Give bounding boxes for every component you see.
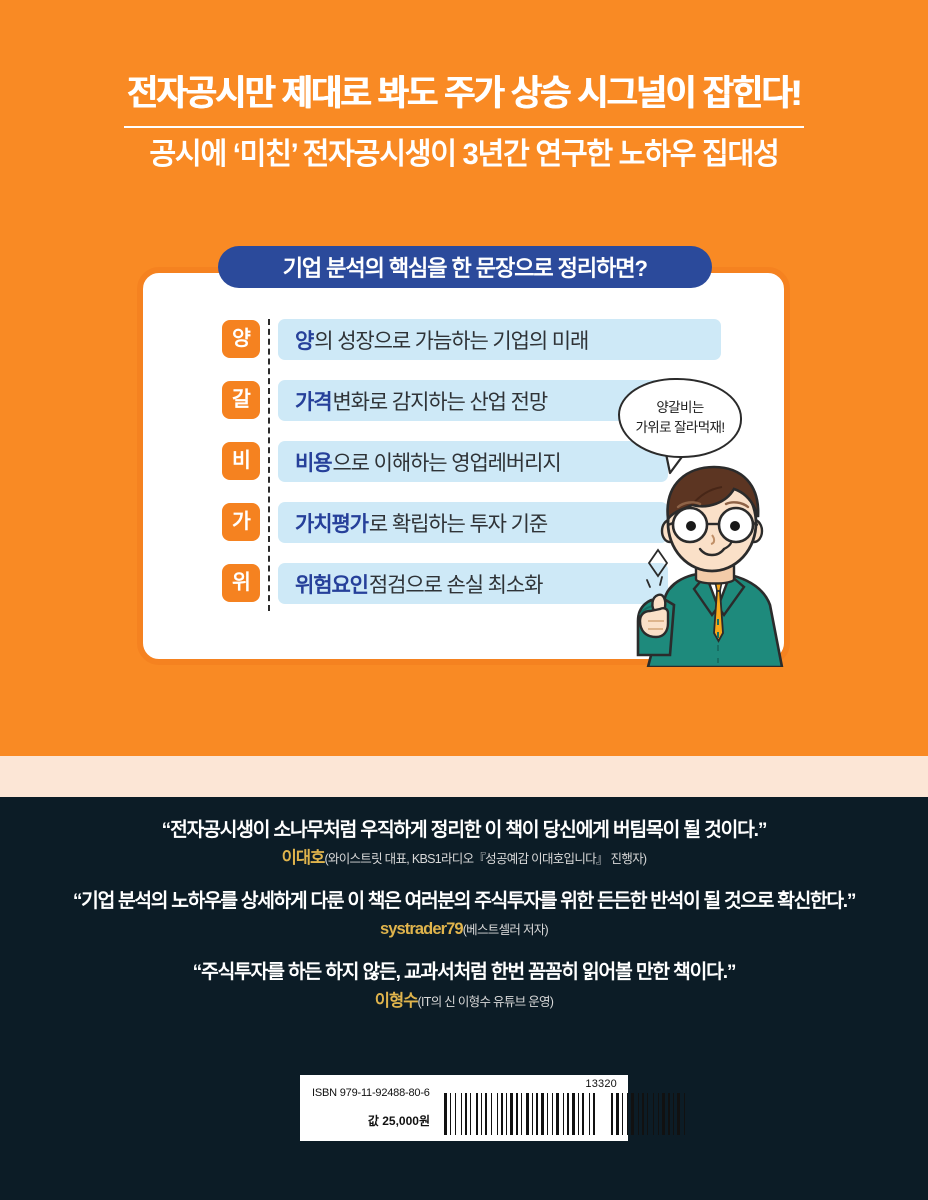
testimonial-author-affiliation: (와이스트릿 대표, KBS1라디오『성공예감 이대호입니다』 진행자) [324,852,646,866]
barcode-block: 13320 [442,1075,628,1141]
row-rest-text: 점검으로 손실 최소화 [369,569,542,599]
testimonial-credit: 이대호(와이스트릿 대표, KBS1라디오『성공예감 이대호입니다』 진행자) [0,849,928,869]
barcode-bars [444,1093,688,1135]
row-badge: 비 [222,442,260,480]
headline-divider-rule [124,126,804,128]
testimonial-credit: 이형수(IT의 신 이형수 유튜브 운영) [0,992,928,1012]
testimonial-item: “주식투자를 하든 하지 않든, 교과서처럼 한번 꼼꼼히 읽어볼 만한 책이다… [0,960,928,1011]
card-banner: 기업 분석의 핵심을 한 문장으로 정리하면? [218,246,712,288]
row-keyword: 양 [295,325,313,355]
testimonial-author-name: systrader79 [380,920,463,938]
row-badge: 양 [222,320,260,358]
testimonial-author-name: 이대호 [282,849,325,867]
row-badge-label: 갈 [232,390,250,411]
book-back-cover: 전자공시만 제대로 봐도 주가 상승 시그널이 잡힌다! 공시에 ‘미친’ 전자… [0,0,928,1200]
testimonial-item: “전자공시생이 소나무처럼 우직하게 정리한 이 책이 당신에게 버팀목이 될 … [0,818,928,869]
row-badge: 위 [222,564,260,602]
testimonial-quote: “기업 분석의 노하우를 상세하게 다룬 이 책은 여러분의 주식투자를 위한 … [7,889,921,914]
testimonial-author-affiliation: (IT의 신 이형수 유튜브 운영) [418,995,554,1009]
speech-bubble: 양갈비는 가위로 잘라먹재! [618,378,742,458]
speech-bubble-line-1: 양갈비는 [656,398,703,418]
isbn-text-block: ISBN 979-11-92488-80-6 값 25,000원 [300,1075,442,1141]
headline-secondary: 공시에 ‘미친’ 전자공시생이 3년간 연구한 노하우 집대성 [14,138,914,173]
testimonial-author-name: 이형수 [375,992,418,1010]
row-keyword: 가치평가 [295,508,368,538]
isbn-code: ISBN 979-11-92488-80-6 [312,1087,434,1099]
card-banner-label: 기업 분석의 핵심을 한 문장으로 정리하면? [283,251,647,283]
row-badge-label: 가 [232,512,250,533]
row-rest-text: 의 성장으로 가늠하는 기업의 미래 [314,325,588,355]
row-rest-text: 변화로 감지하는 산업 전망 [332,386,547,416]
cream-divider-band [0,756,928,797]
testimonial-section: “전자공시생이 소나무처럼 우직하게 정리한 이 책이 당신에게 버팀목이 될 … [0,818,928,1031]
list-item: 양 양의 성장으로 가늠하는 기업의 미래 [143,319,784,360]
dashed-divider [268,319,270,611]
isbn-price: 값 25,000원 [312,1112,434,1129]
headline-block: 전자공시만 제대로 봐도 주가 상승 시그널이 잡힌다! 공시에 ‘미친’ 전자… [0,74,928,172]
row-badge-label: 양 [232,329,250,350]
speech-bubble-line-2: 가위로 잘라먹재! [635,418,724,438]
testimonial-item: “기업 분석의 노하우를 상세하게 다룬 이 책은 여러분의 주식투자를 위한 … [0,889,928,940]
isbn-barcode-box: ISBN 979-11-92488-80-6 값 25,000원 13320 [300,1075,628,1141]
testimonial-credit: systrader79(베스트셀러 저자) [0,920,928,940]
row-text: 위험요인 점검으로 손실 최소화 [295,563,542,604]
row-keyword: 위험요인 [295,569,368,599]
row-badge-label: 비 [232,451,250,472]
testimonial-quote: “주식투자를 하든 하지 않든, 교과서처럼 한번 꼼꼼히 읽어볼 만한 책이다… [7,960,921,985]
testimonial-author-affiliation: (베스트셀러 저자) [463,923,548,937]
headline-primary: 전자공시만 제대로 봐도 주가 상승 시그널이 잡힌다! [19,74,910,115]
row-badge-label: 위 [232,573,250,594]
row-text: 가격 변화로 감지하는 산업 전망 [295,380,547,421]
row-text: 가치평가로 확립하는 투자 기준 [295,502,547,543]
mascot-character-illustration [630,455,800,667]
row-text: 양의 성장으로 가늠하는 기업의 미래 [295,319,588,360]
row-keyword: 비용 [295,447,331,477]
isbn-category-number: 13320 [585,1078,617,1090]
row-rest-text: 로 확립하는 투자 기준 [369,508,547,538]
row-keyword: 가격 [295,386,331,416]
row-rest-text: 으로 이해하는 영업레버리지 [332,447,560,477]
testimonial-quote: “전자공시생이 소나무처럼 우직하게 정리한 이 책이 당신에게 버팀목이 될 … [7,818,921,843]
row-text: 비용으로 이해하는 영업레버리지 [295,441,561,482]
row-badge: 갈 [222,381,260,419]
row-badge: 가 [222,503,260,541]
